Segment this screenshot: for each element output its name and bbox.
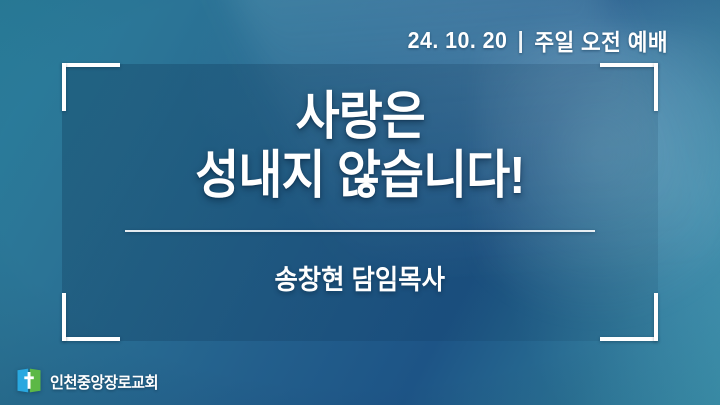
sermon-title-line-2: 성내지 않습니다! <box>195 149 524 204</box>
header-separator: | <box>518 27 524 54</box>
title-divider <box>125 230 595 232</box>
church-name-label: 인천중앙장로교회 <box>50 369 158 393</box>
header-service-info: 24. 10. 20 | 주일 오전 예배 <box>408 23 668 57</box>
church-logo: 인천중앙장로교회 <box>16 368 164 393</box>
sermon-content-block: 사랑은 성내지 않습니다! 송창현 담임목사 <box>62 64 658 341</box>
church-cross-logo-icon <box>16 368 42 393</box>
sermon-title-line-1: 사랑은 <box>295 90 424 145</box>
service-name: 주일 오전 예배 <box>534 23 668 57</box>
speaker-name: 송창현 담임목사 <box>275 258 446 297</box>
sermon-title-slide: 24. 10. 20 | 주일 오전 예배 사랑은 성내지 않습니다! 송창현 … <box>0 0 720 405</box>
service-date: 24. 10. 20 <box>408 27 508 54</box>
